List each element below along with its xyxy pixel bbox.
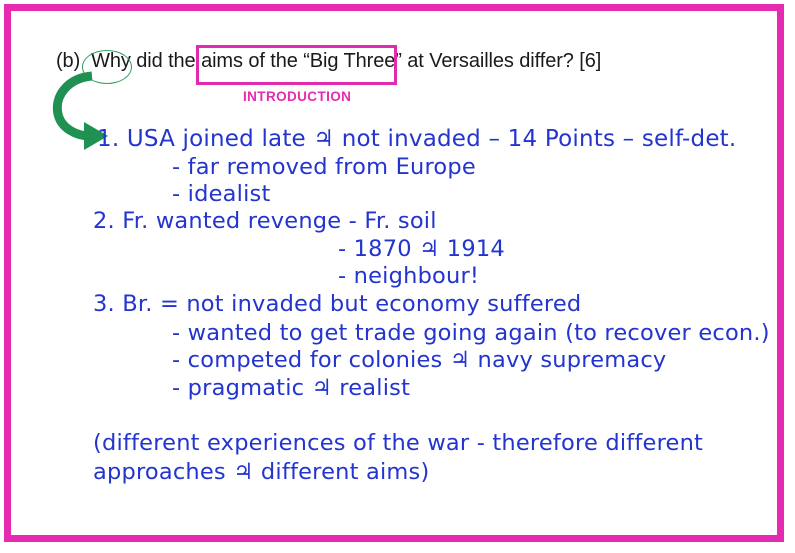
note-point-2-sub-1: - 1870 ♃ 1914: [338, 236, 505, 262]
note-point-3-sub-1: - wanted to get trade going again (to re…: [172, 320, 770, 346]
note-point-1-sub-1: - far removed from Europe: [172, 154, 476, 180]
question-text-after-box: at Versailles differ? [6]: [407, 50, 601, 72]
note-conclusion: (different experiences of the war - ther…: [93, 429, 703, 487]
note-point-1: 1. USA joined late ♃ not invaded – 14 Po…: [97, 126, 736, 152]
note-point-3-sub-2: - competed for colonies ♃ navy supremacy: [172, 347, 666, 373]
note-point-3: 3. Br. = not invaded but economy suffere…: [93, 291, 581, 317]
pink-highlight-box-aims: [196, 45, 397, 85]
note-point-2-sub-2: - neighbour!: [338, 263, 479, 289]
introduction-label: INTRODUCTION: [243, 89, 351, 104]
slide-canvas: (b) Why did the aims of the “Big Three” …: [0, 0, 795, 553]
note-point-1-sub-2: - idealist: [172, 181, 270, 207]
note-point-3-sub-3: - pragmatic ♃ realist: [172, 375, 410, 401]
note-point-2: 2. Fr. wanted revenge - Fr. soil: [93, 208, 437, 234]
